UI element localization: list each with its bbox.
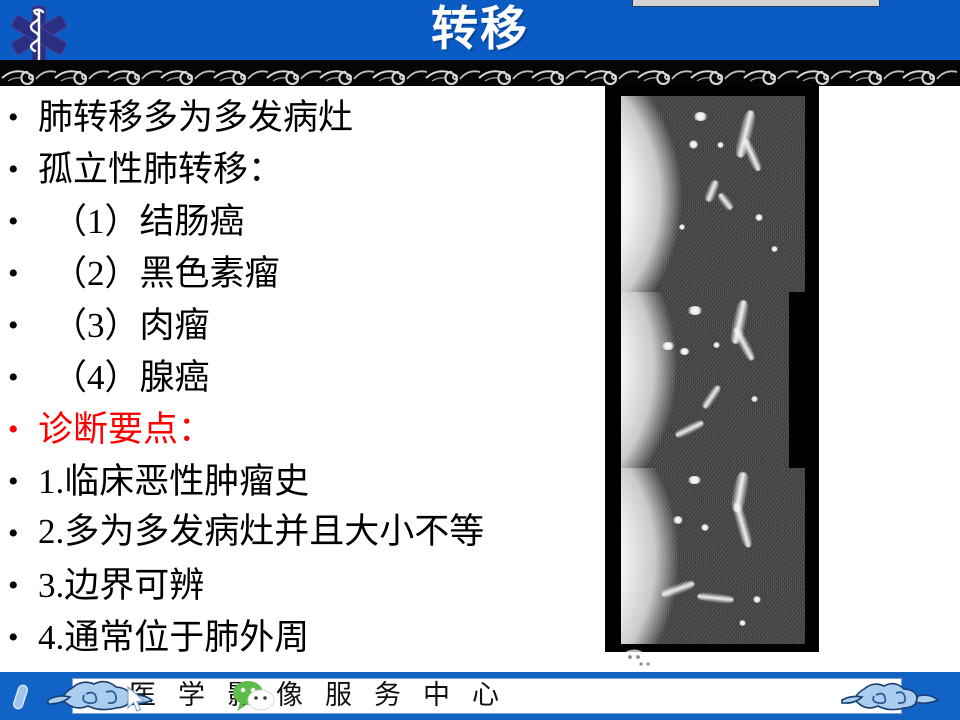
ct-scan-image	[605, 86, 819, 652]
list-item-text: 诊断要点：	[38, 404, 608, 456]
ct-panel-1	[621, 96, 805, 292]
bullet-marker: •	[8, 248, 38, 300]
list-item: • （1）结肠癌	[8, 196, 608, 248]
bullet-marker: •	[8, 612, 38, 664]
cloud-icon	[838, 678, 948, 716]
list-item-diagnostic-heading: • 诊断要点：	[8, 404, 608, 456]
wave-divider	[0, 60, 960, 86]
list-item: • 2.多为多发病灶并且大小不等	[8, 508, 608, 560]
list-item-text: 1.临床恶性肿瘤史	[38, 456, 608, 508]
bullet-marker: •	[8, 300, 38, 352]
list-item: • （3）肉瘤	[8, 300, 608, 352]
list-item-text: （1）结肠癌	[38, 196, 608, 248]
wechat-icon	[232, 680, 276, 712]
bullet-marker: •	[8, 352, 38, 404]
bullet-marker: •	[8, 560, 38, 612]
list-item: • 1.临床恶性肿瘤史	[8, 456, 608, 508]
bullet-marker: •	[8, 196, 38, 248]
list-item-text: 4.通常位于肺外周	[38, 612, 608, 664]
ct-panel-2	[621, 292, 789, 468]
page-title: 转移	[0, 2, 960, 58]
bullet-marker: •	[8, 508, 38, 560]
ct-panel-3	[621, 468, 805, 644]
bullet-marker: •	[8, 456, 38, 508]
list-item-text: （4）腺癌	[38, 352, 608, 404]
list-item: • 孤立性肺转移：	[8, 144, 608, 196]
list-item-text: 肺转移多为多发病灶	[38, 92, 608, 144]
list-item-text: （3）肉瘤	[38, 300, 608, 352]
list-item-text: 3.边界可辨	[38, 560, 608, 612]
cursor-arrow-icon	[126, 686, 148, 714]
list-item: • 肺转移多为多发病灶	[8, 92, 608, 144]
slide-root: 转移	[0, 0, 960, 720]
list-item: • 4.通常位于肺外周	[8, 612, 608, 664]
star-of-life-logo	[6, 4, 72, 66]
bottom-strip-text: 医学影像服务中心	[129, 679, 789, 713]
bullet-list: • 肺转移多为多发病灶 • 孤立性肺转移： • （1）结肠癌 • （2）黑色素瘤…	[8, 92, 608, 664]
bullet-marker: •	[8, 144, 38, 196]
list-item-text: 2.多为多发病灶并且大小不等	[38, 508, 608, 555]
ct-panel-stack	[621, 96, 805, 644]
list-item-text: 孤立性肺转移：	[38, 144, 608, 196]
list-item: • 3.边界可辨	[8, 560, 608, 612]
bullet-marker: •	[8, 404, 38, 456]
bullet-marker: •	[8, 92, 38, 144]
pen-icon[interactable]	[6, 682, 36, 712]
list-item-text: （2）黑色素瘤	[38, 248, 608, 300]
bottom-strip: 医学影像服务中心	[72, 678, 902, 714]
list-item: • （4）腺癌	[8, 352, 608, 404]
list-item: • （2）黑色素瘤	[8, 248, 608, 300]
